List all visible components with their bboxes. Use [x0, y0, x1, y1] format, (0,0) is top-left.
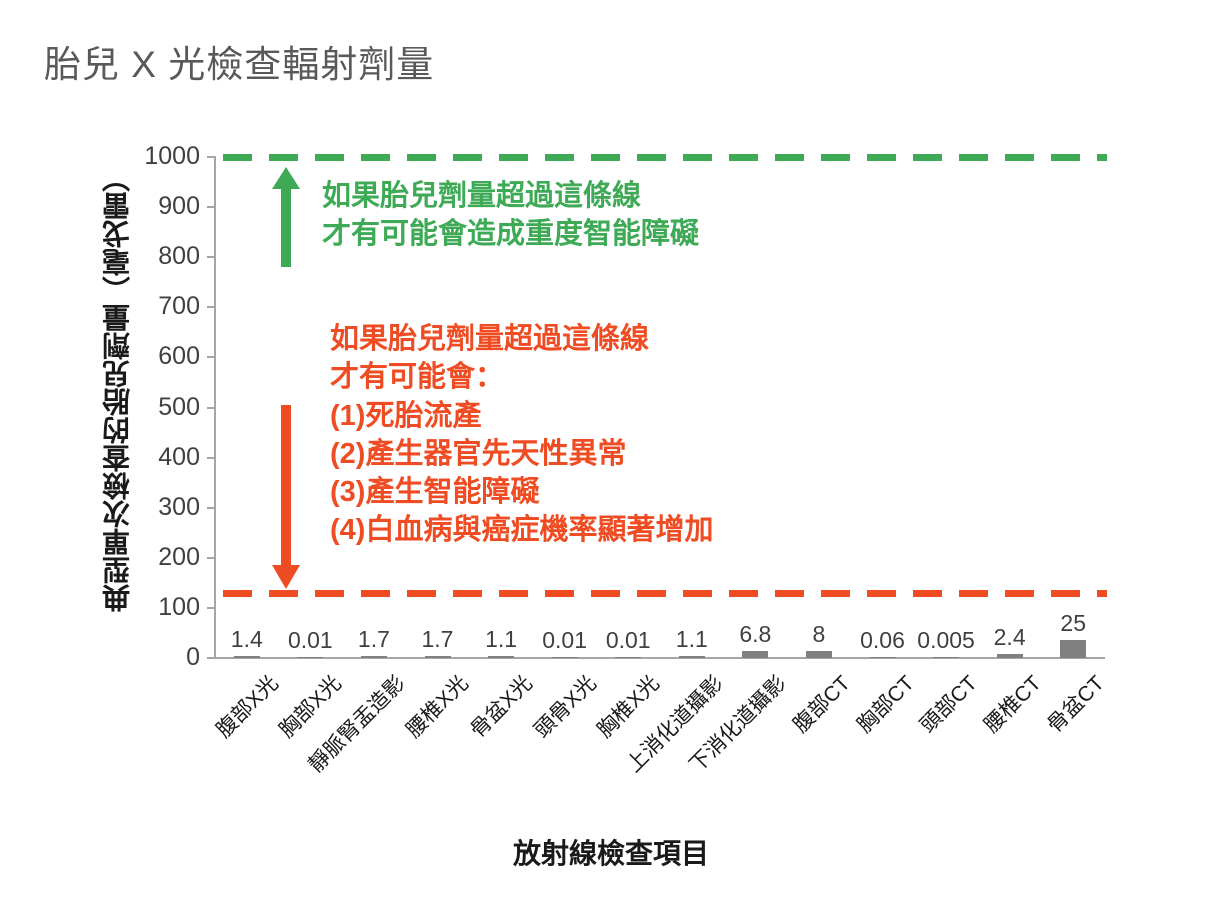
red-annotation-line-2: 才有可能會：	[330, 358, 713, 396]
y-tick	[207, 156, 215, 158]
y-tick-label: 0	[80, 643, 200, 672]
bar	[997, 654, 1023, 658]
x-category-label-text: 胸部CT	[849, 668, 920, 739]
bar	[361, 656, 387, 659]
y-tick	[207, 356, 215, 358]
x-category-label-text: 頭部CT	[913, 668, 984, 739]
red-annotation-line-6: (4)白血病與癌症機率顯著增加	[330, 511, 713, 549]
x-category-label-text: 頭骨X光	[526, 668, 602, 744]
y-tick-label: 700	[80, 292, 200, 321]
y-tick-label: 400	[80, 443, 200, 472]
y-tick-label: 200	[80, 543, 200, 572]
y-tick	[207, 507, 215, 509]
up-arrow-icon	[272, 167, 300, 189]
green-threshold-line	[223, 154, 1107, 161]
y-tick-label: 1000	[80, 142, 200, 171]
y-tick	[207, 407, 215, 409]
y-tick-label: 800	[80, 242, 200, 271]
y-tick-label: 500	[80, 393, 200, 422]
x-category-label-text: 腹部X光	[208, 668, 284, 744]
red-annotation-text: 如果胎兒劑量超過這條線才有可能會：(1)死胎流產(2)產生器官先天性異常(3)產…	[330, 320, 713, 550]
y-tick	[207, 457, 215, 459]
bar	[297, 657, 323, 658]
y-tick-label: 300	[80, 493, 200, 522]
bar	[742, 651, 768, 658]
bar	[933, 657, 959, 658]
bar	[806, 651, 832, 658]
y-tick	[207, 206, 215, 208]
bar	[679, 656, 705, 659]
y-tick	[207, 306, 215, 308]
y-tick	[207, 557, 215, 559]
bar	[615, 657, 641, 658]
bar	[234, 656, 260, 659]
bar	[425, 656, 451, 659]
bar	[870, 657, 896, 658]
x-category-label-text: 骨盆CT	[1040, 668, 1111, 739]
x-category-label-text: 腰椎CT	[976, 668, 1047, 739]
down-arrow-icon	[272, 565, 300, 589]
y-tick	[207, 657, 215, 659]
red-annotation-line-3: (1)死胎流產	[330, 397, 713, 435]
down-arrow-shaft	[281, 405, 291, 567]
x-category-label-text: 骨盆X光	[463, 668, 539, 744]
y-tick	[207, 607, 215, 609]
y-tick-label: 900	[80, 192, 200, 221]
y-tick-label: 100	[80, 593, 200, 622]
bar-value-label: 25	[1028, 610, 1118, 637]
green-annotation-line-1: 如果胎兒劑量超過這條線	[322, 177, 699, 215]
bar	[552, 657, 578, 658]
red-threshold-line	[223, 590, 1107, 597]
y-tick	[207, 256, 215, 258]
red-annotation-line-4: (2)產生器官先天性異常	[330, 435, 713, 473]
y-tick-label: 600	[80, 342, 200, 371]
bar	[488, 656, 514, 659]
green-annotation-text: 如果胎兒劑量超過這條線才有可能會造成重度智能障礙	[322, 177, 699, 254]
red-annotation-line-5: (3)產生智能障礙	[330, 473, 713, 511]
x-category-label-text: 腹部CT	[785, 668, 856, 739]
radiation-dose-bar-chart: 典型單次檢查的胎兒劑量（毫戈雷） 01002003004005006007008…	[0, 0, 1222, 916]
up-arrow-shaft	[281, 187, 291, 267]
red-annotation-line-1: 如果胎兒劑量超過這條線	[330, 320, 713, 358]
x-category-label-text: 腰椎X光	[399, 668, 475, 744]
green-annotation-line-2: 才有可能會造成重度智能障礙	[322, 215, 699, 253]
x-axis-title: 放射線檢查項目	[0, 832, 1222, 872]
bar	[1060, 640, 1086, 658]
